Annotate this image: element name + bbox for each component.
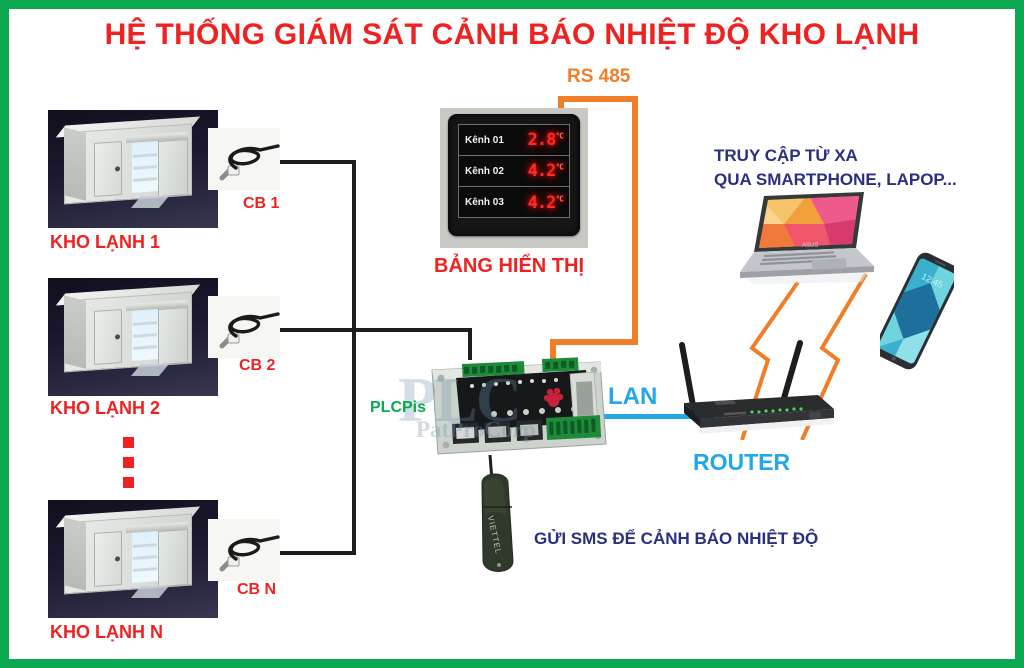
plc-controller [424,348,610,462]
cold-room-2-image [48,278,218,396]
page-title: HỆ THỐNG GIÁM SÁT CẢNH BÁO NHIỆT ĐỘ KHO … [0,18,1024,52]
svg-text:ASUS: ASUS [802,243,818,249]
display-channel-label: Kênh 03 [465,197,504,208]
cold-room-n-label: KHO LẠNH N [50,622,163,643]
lan-label: LAN [608,383,657,411]
remote-access-line-1: TRUY CẬP TỪ XA [714,146,858,166]
rs485-wire-right-vertical [632,96,638,345]
cold-room-1-image [48,110,218,228]
cold-room-1-label: KHO LẠNH 1 [50,232,160,253]
display-panel-caption: BẢNG HIỂN THỊ [434,255,584,278]
display-row: Kênh 02 4.2°C [459,156,569,187]
temperature-probe-1 [208,128,280,190]
wifi-router [678,325,838,437]
display-value: 4.2°C [528,193,563,213]
display-row: Kênh 03 4.2°C [459,187,569,218]
ellipsis-dot-2 [123,457,134,468]
sms-caption: GỬI SMS ĐỂ CẢNH BÁO NHIỆT ĐỘ [534,529,818,549]
cold-room-2-label: KHO LẠNH 2 [50,398,160,419]
laptop: ASUS [728,190,878,286]
display-channel-label: Kênh 02 [465,166,504,177]
sensor-1-label: CB 1 [243,195,279,213]
cold-room-n-image [48,500,218,618]
remote-access-line-2: QUA SMARTPHONE, LAPOP... [714,170,957,190]
sensor-wire-1-horizontal [268,160,356,164]
sensor-n-label: CB N [237,581,276,599]
ellipsis-dot-1 [123,437,134,448]
led-display-panel: Kênh 01 2.8°C Kênh 02 4.2°C Kênh 03 4.2°… [440,108,588,248]
display-value: 4.2°C [528,161,563,181]
smartphone: 12:45 [880,250,954,372]
sensor-wire-2-horizontal [268,328,356,332]
sensor-wire-bus-vertical [352,160,356,555]
display-channel-label: Kênh 01 [465,135,504,146]
ellipsis-dot-3 [123,477,134,488]
rs485-wire-bottom-horizontal [550,339,638,345]
rs485-label: RS 485 [567,66,630,88]
sensor-wire-n-horizontal [268,551,356,555]
usb-3g-dongle: VIETTEL [468,455,528,580]
sensor-2-label: CB 2 [239,357,275,375]
temperature-probe-2 [208,296,280,358]
router-label: ROUTER [693,449,790,476]
plc-label: PLCPis [370,399,426,417]
sensor-wire-to-plc-horizontal [352,328,472,332]
display-row: Kênh 01 2.8°C [459,125,569,156]
rs485-wire-top-horizontal [558,96,638,102]
temperature-probe-n [208,519,280,581]
diagram-canvas: HỆ THỐNG GIÁM SÁT CẢNH BÁO NHIỆT ĐỘ KHO … [0,0,1024,668]
display-value: 2.8°C [528,130,563,150]
